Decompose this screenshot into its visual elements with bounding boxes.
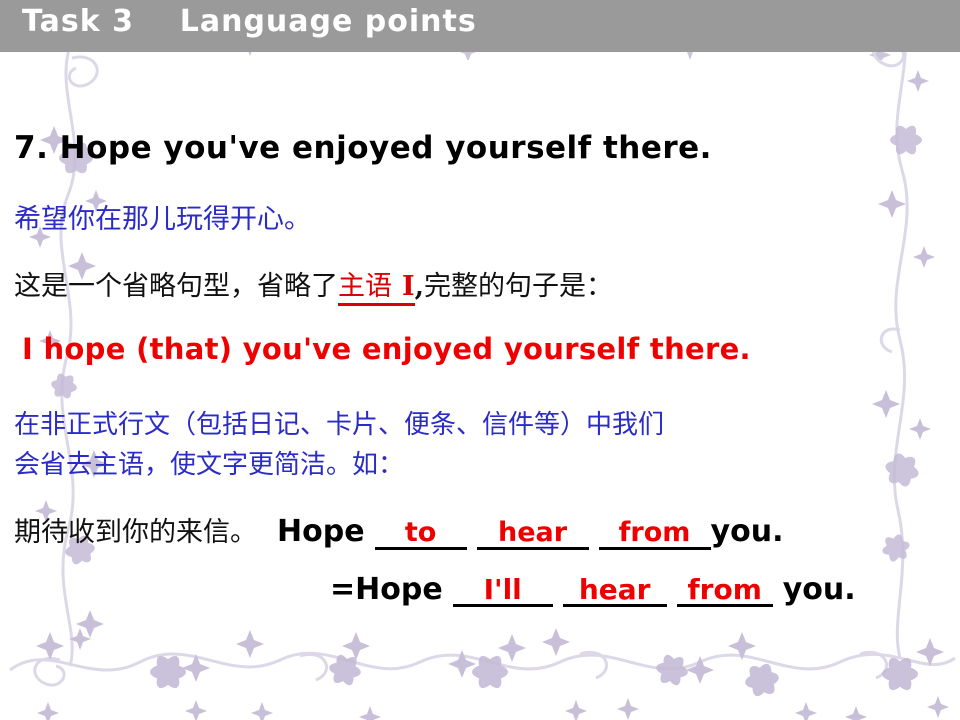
slide-content: 7. Hope you've enjoyed yourself there. 希… bbox=[0, 52, 960, 720]
title-bar: Task 3 Language points bbox=[0, 0, 960, 52]
row1-tail: you. bbox=[711, 514, 784, 549]
row1-blank-1[interactable]: to bbox=[375, 519, 467, 550]
grammar-explanation: 这是一个省略句型，省略了主语I,完整的句子是： bbox=[14, 264, 613, 303]
explain-comma: , bbox=[415, 271, 424, 302]
slide: Task 3 Language points 7. Hope you've en… bbox=[0, 0, 960, 720]
explain-after: 完整的句子是： bbox=[424, 271, 613, 302]
example-row-1: 期待收到你的来信。Hopetohearfromyou. bbox=[14, 510, 783, 550]
highlight-en: I bbox=[402, 271, 415, 302]
omitted-subject-highlight: 主语I bbox=[338, 271, 415, 306]
row2-tail: you. bbox=[783, 572, 856, 607]
page-title: Task 3 Language points bbox=[22, 4, 477, 39]
row1-lead: Hope bbox=[277, 514, 365, 549]
full-sentence: I hope (that) you've enjoyed yourself th… bbox=[22, 332, 751, 366]
item-heading: 7. Hope you've enjoyed yourself there. bbox=[14, 130, 712, 166]
highlight-cn: 主语 bbox=[338, 271, 392, 302]
chinese-translation: 希望你在那儿玩得开心。 bbox=[14, 197, 311, 236]
row1-blank-3[interactable]: from bbox=[599, 519, 711, 550]
row2-blank-2[interactable]: hear bbox=[563, 575, 667, 607]
example-row-2: =HopeI'llhearfromyou. bbox=[330, 572, 856, 607]
note-line-1: 在非正式行文（包括日记、卡片、便条、信件等）中我们 bbox=[14, 404, 664, 441]
row1-blank-2[interactable]: hear bbox=[477, 519, 589, 550]
row2-blank-3[interactable]: from bbox=[677, 575, 773, 607]
note-line-2: 会省去主语，使文字更简洁。如： bbox=[14, 444, 404, 481]
row2-lead: =Hope bbox=[330, 572, 443, 607]
row2-blank-1[interactable]: I'll bbox=[453, 575, 553, 607]
explain-before: 这是一个省略句型，省略了 bbox=[14, 271, 338, 302]
example-prompt-cn: 期待收到你的来信。 bbox=[14, 517, 257, 548]
